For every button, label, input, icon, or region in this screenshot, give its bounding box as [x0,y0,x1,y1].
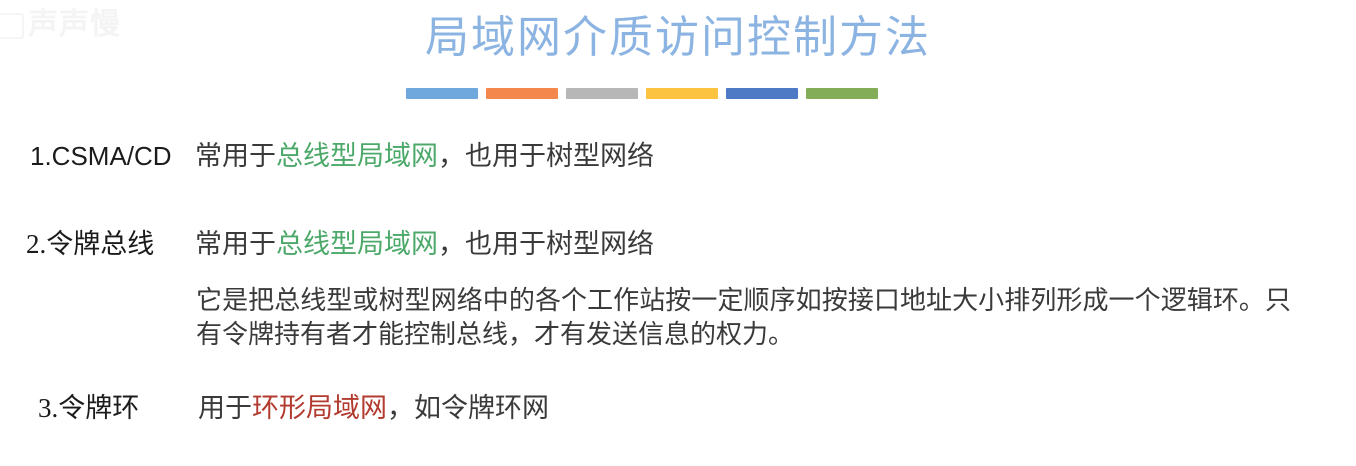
title-block: 局域网介质访问控制方法 [0,10,1356,66]
item-2-paragraph: 它是把总线型或树型网络中的各个工作站按一定顺序如按接口地址大小排列形成一个逻辑环… [196,284,1291,352]
item-body-2-highlight: 总线型局域网 [276,229,438,259]
item-label-2: 2.令牌总线 [26,224,154,264]
item-body-1-prefix: 常用于 [195,141,276,171]
bar-blue [726,88,798,99]
bar-green [806,88,878,99]
item-body-2: 常用于总线型局域网，也用于树型网络 [195,224,654,264]
item-body-3-highlight: 环形局域网 [252,393,387,423]
bar-light-blue [406,88,478,99]
item-body-1: 常用于总线型局域网，也用于树型网络 [195,136,654,176]
decorative-bar-row [406,88,878,99]
item-body-3: 用于环形局域网，如令牌环网 [198,388,549,428]
item-body-2-suffix: ，也用于树型网络 [438,229,654,259]
bar-orange [486,88,558,99]
slide-canvas: 声声慢 局域网介质访问控制方法 1.CSMA/CD 常用于总线型局域网，也用于树… [0,0,1356,466]
item-label-3: 3.令牌环 [38,388,139,428]
item-body-1-highlight: 总线型局域网 [276,141,438,171]
item-label-1: 1.CSMA/CD [30,136,172,176]
bar-yellow [646,88,718,99]
item-body-3-prefix: 用于 [198,393,252,423]
item-body-2-prefix: 常用于 [195,229,276,259]
item-body-3-suffix: ，如令牌环网 [387,393,549,423]
bar-gray [566,88,638,99]
item-body-1-suffix: ，也用于树型网络 [438,141,654,171]
page-title: 局域网介质访问控制方法 [0,10,1356,66]
